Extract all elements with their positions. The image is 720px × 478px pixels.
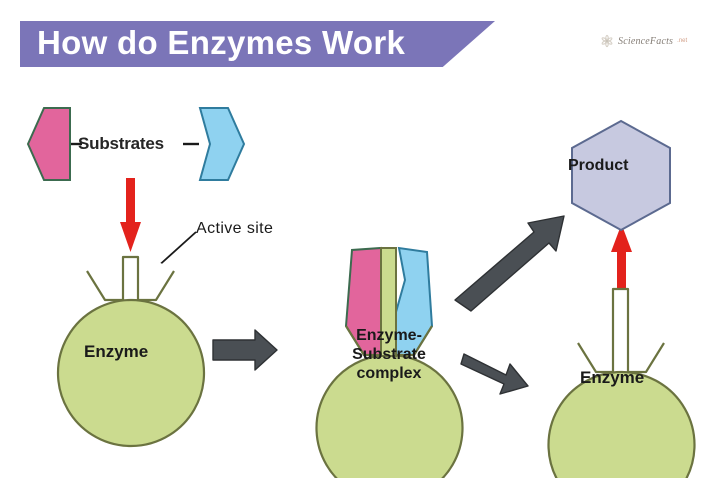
- enzyme-to-complex-arrow: [213, 330, 277, 370]
- title-banner: How do Enzymes Work: [20, 21, 495, 67]
- complex-label: Enzyme- Substrate complex: [327, 327, 451, 384]
- page-title: How do Enzymes Work: [37, 24, 405, 62]
- atom-icon: [600, 34, 614, 48]
- complex-to-enzyme-arrow: [461, 354, 528, 394]
- substrates-label: Substrates: [78, 134, 164, 154]
- substrate-to-enzyme-arrow: [120, 178, 141, 252]
- enzyme-diagram-figure: How do Enzymes Work ScienceFacts .net: [0, 0, 720, 478]
- complex-label-line3: complex: [327, 365, 451, 384]
- complex-to-product-arrow: [455, 216, 564, 311]
- enzyme-to-product-arrow: [611, 224, 632, 289]
- complex-label-line1: Enzyme-: [327, 327, 451, 346]
- diagram-graphics: [0, 0, 720, 478]
- complex-label-line2: Substrate: [327, 346, 451, 365]
- enzyme-last-label: Enzyme: [580, 368, 644, 388]
- active-site-leader-line: [145, 232, 196, 278]
- substrate-pink-shape: [28, 108, 70, 180]
- logo-suffix: .net: [677, 38, 687, 44]
- product-label: Product: [568, 157, 628, 176]
- active-site-label: Active site: [196, 220, 273, 239]
- substrate-blue-shape: [200, 108, 244, 180]
- enzyme-first-label: Enzyme: [84, 342, 148, 362]
- sciencefacts-logo: ScienceFacts .net: [600, 30, 700, 52]
- logo-text: ScienceFacts: [618, 36, 673, 47]
